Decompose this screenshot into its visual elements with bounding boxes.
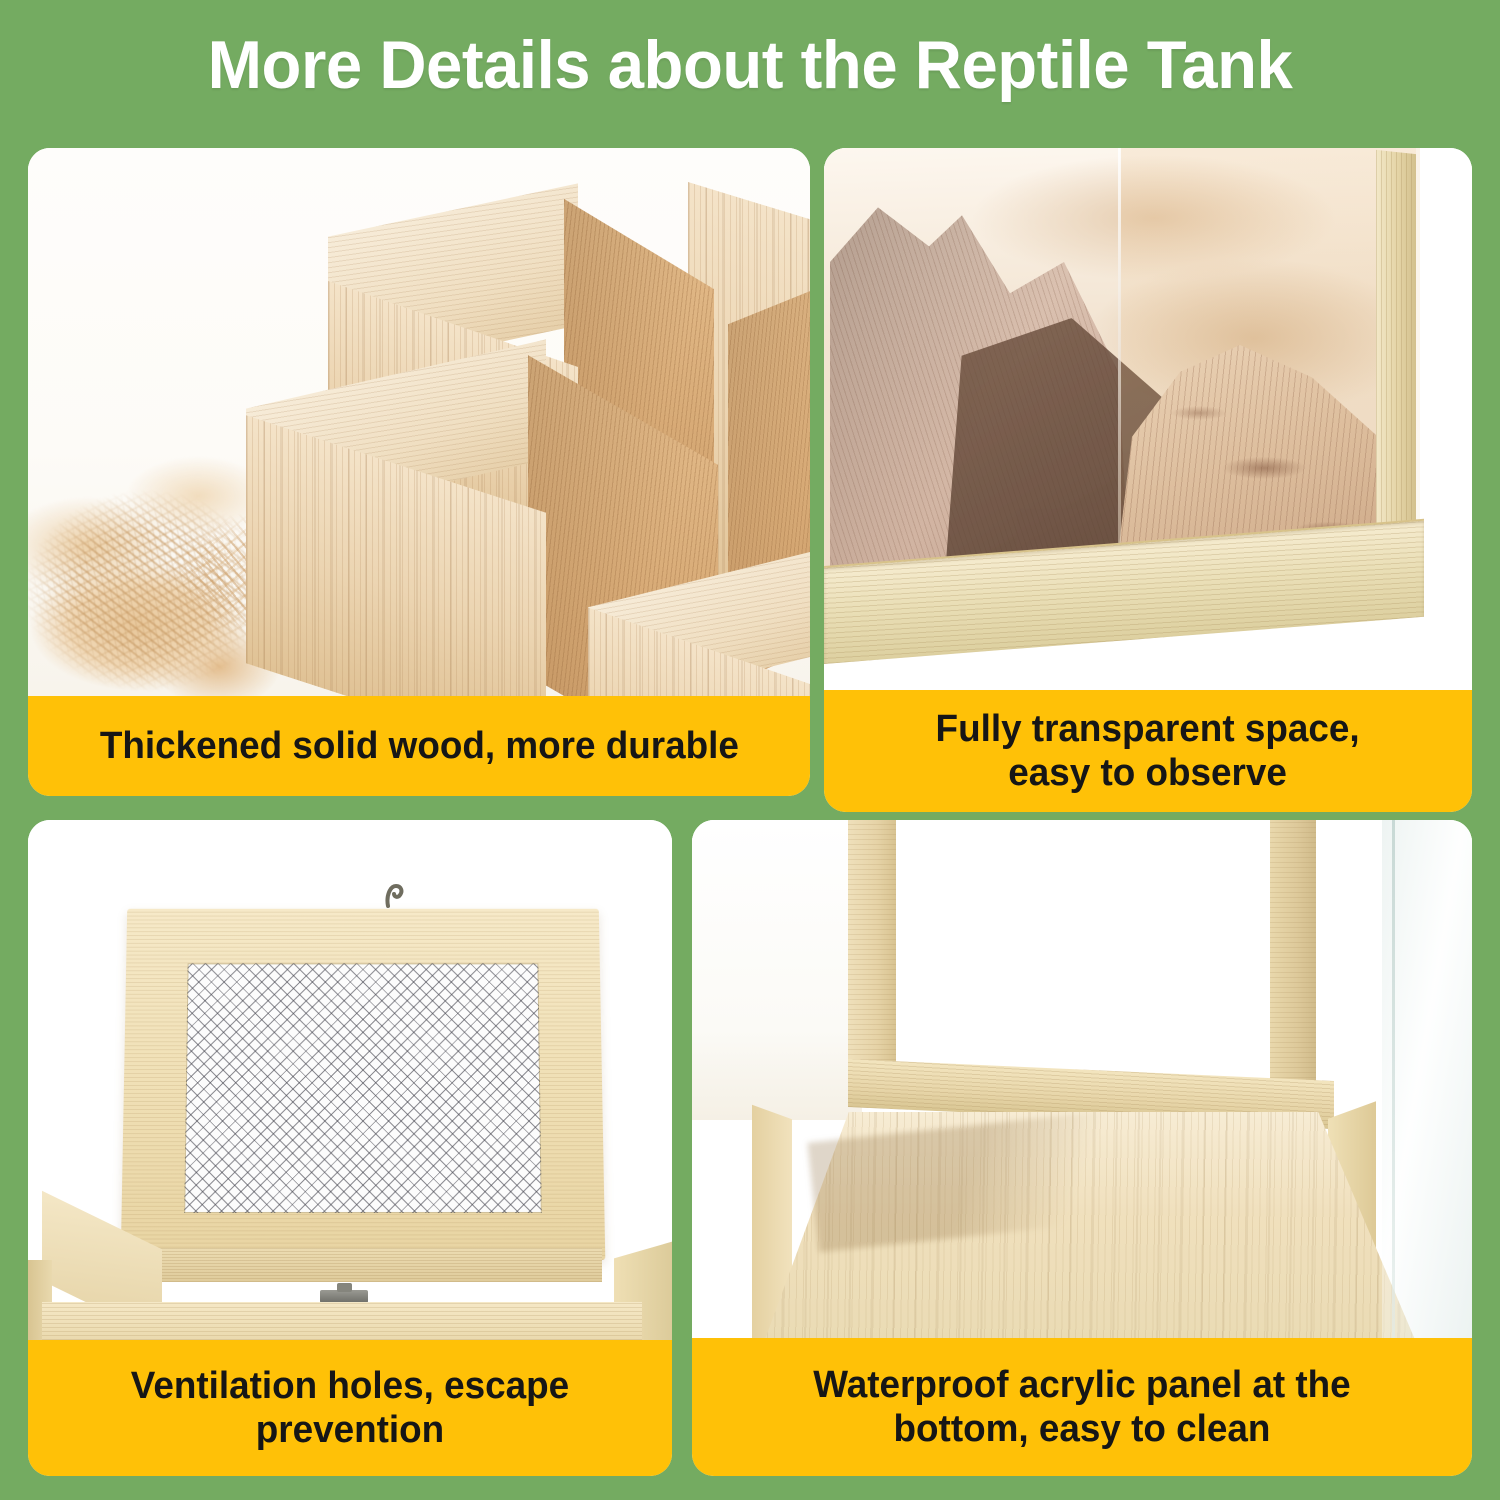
ventilation-lid-front-edge — [124, 1248, 602, 1282]
feature-card-ventilation-holes: Ventilation holes, escape prevention — [28, 820, 672, 1476]
page-title: More Details about the Reptile Tank — [30, 26, 1470, 104]
caption-line-2: prevention — [131, 1408, 569, 1452]
glass-panel-seam — [1118, 148, 1121, 580]
photo-transparent-tank — [824, 148, 1472, 690]
background-haze — [692, 820, 862, 1120]
ventilation-scene — [28, 820, 672, 1340]
transparent-tank-scene — [824, 148, 1472, 690]
caption-line-1: Thickened solid wood, more durable — [99, 724, 738, 768]
caption-line-2: bottom, easy to clean — [813, 1407, 1350, 1451]
tank-corner-post-left — [848, 820, 896, 1090]
caption-thickened-solid-wood: Thickened solid wood, more durable — [28, 696, 810, 796]
caption-fully-transparent-space: Fully transparent space, easy to observe — [824, 690, 1472, 812]
caption-line-1: Waterproof acrylic panel at the — [813, 1363, 1350, 1407]
glass-panel-tint — [1120, 148, 1420, 578]
tank-corner-post-right — [1270, 820, 1316, 1088]
ventilation-mesh-window — [184, 963, 542, 1213]
photo-ventilation-lid — [28, 820, 672, 1340]
photo-acrylic-bottom-panel — [692, 820, 1472, 1338]
ventilation-lid-frame — [121, 909, 606, 1260]
mesh-screen-icon — [184, 963, 542, 1213]
caption-ventilation-holes: Ventilation holes, escape prevention — [28, 1340, 672, 1476]
caption-line-1: Fully transparent space, — [936, 707, 1360, 751]
caption-waterproof-acrylic-panel: Waterproof acrylic panel at the bottom, … — [692, 1338, 1472, 1476]
feature-card-fully-transparent-space: Fully transparent space, easy to observe — [824, 148, 1472, 812]
product-detail-page: More Details about the Reptile Tank Thic… — [0, 0, 1500, 1500]
clear-acrylic-side-panel — [1382, 820, 1472, 1338]
photo-solid-wood-blocks — [28, 148, 810, 696]
hook-latch-icon — [380, 878, 406, 908]
feature-card-thickened-solid-wood: Thickened solid wood, more durable — [28, 148, 810, 796]
tank-box-front-rail — [42, 1302, 642, 1340]
caption-line-2: easy to observe — [936, 751, 1360, 795]
acrylic-base-scene — [692, 820, 1472, 1338]
caption-line-1: Ventilation holes, escape — [131, 1364, 569, 1408]
acrylic-panel-edge-line — [1392, 820, 1395, 1338]
wood-scene — [28, 148, 810, 696]
feature-card-waterproof-acrylic-panel: Waterproof acrylic panel at the bottom, … — [692, 820, 1472, 1476]
